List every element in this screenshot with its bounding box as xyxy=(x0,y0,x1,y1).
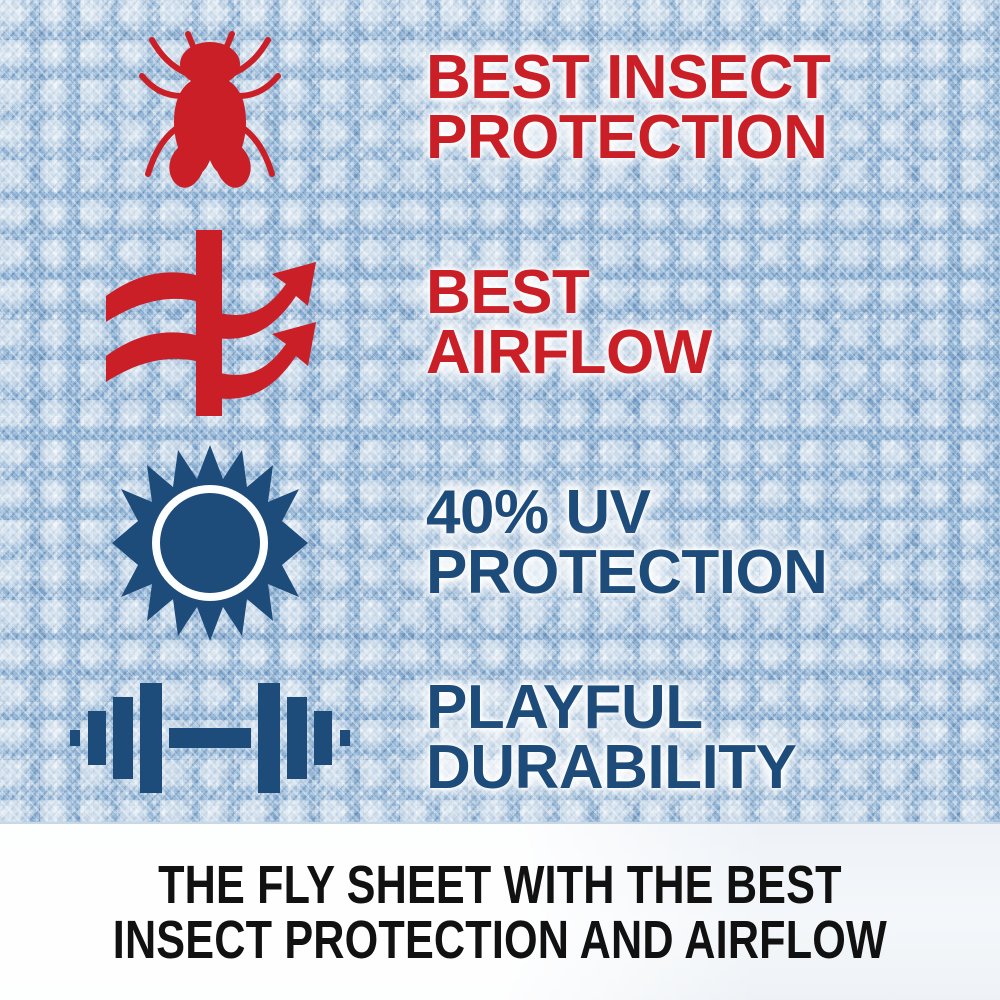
caption-line-1: THE FLY SHEET WITH THE BEST xyxy=(158,855,842,915)
feature-row-durability: PLAYFULDURABILITY xyxy=(0,654,1000,822)
text-cell-insect: BEST INSECTPROTECTION xyxy=(420,48,1000,167)
feature-line-2: DURABILITY xyxy=(426,733,796,802)
bottom-caption-bar: THE FLY SHEET WITH THE BESTINSECT PROTEC… xyxy=(0,822,1000,1000)
dumbbell-icon xyxy=(70,673,350,803)
icon-cell-airflow xyxy=(0,228,420,418)
icon-cell-uv xyxy=(0,443,420,643)
icon-cell-insect xyxy=(0,18,420,198)
caption-line-2: INSECT PROTECTION AND AIRFLOW xyxy=(113,910,887,970)
airflow-arrows-icon xyxy=(100,228,320,418)
feature-line-2: AIRFLOW xyxy=(426,318,712,387)
feature-label-uv-protection: 40% UVPROTECTION xyxy=(426,483,1000,602)
text-cell-durability: PLAYFULDURABILITY xyxy=(420,678,1000,797)
fly-icon xyxy=(130,18,290,198)
feature-label-airflow: BESTAIRFLOW xyxy=(426,263,1000,382)
text-cell-airflow: BESTAIRFLOW xyxy=(420,263,1000,382)
feature-line-2: PROTECTION xyxy=(426,538,827,607)
product-feature-infographic: BEST INSECTPROTECTION BESTAIRFLOW xyxy=(0,0,1000,1000)
sun-icon xyxy=(110,443,310,643)
feature-row-airflow: BESTAIRFLOW xyxy=(0,215,1000,430)
text-cell-uv: 40% UVPROTECTION xyxy=(420,483,1000,602)
bottom-caption-text: THE FLY SHEET WITH THE BESTINSECT PROTEC… xyxy=(113,858,887,968)
feature-label-durability: PLAYFULDURABILITY xyxy=(426,678,1000,797)
icon-cell-durability xyxy=(0,673,420,803)
feature-label-insect-protection: BEST INSECTPROTECTION xyxy=(426,48,1000,167)
feature-row-uv-protection: 40% UVPROTECTION xyxy=(0,432,1000,654)
feature-row-insect-protection: BEST INSECTPROTECTION xyxy=(0,0,1000,215)
feature-line-2: PROTECTION xyxy=(426,103,827,172)
